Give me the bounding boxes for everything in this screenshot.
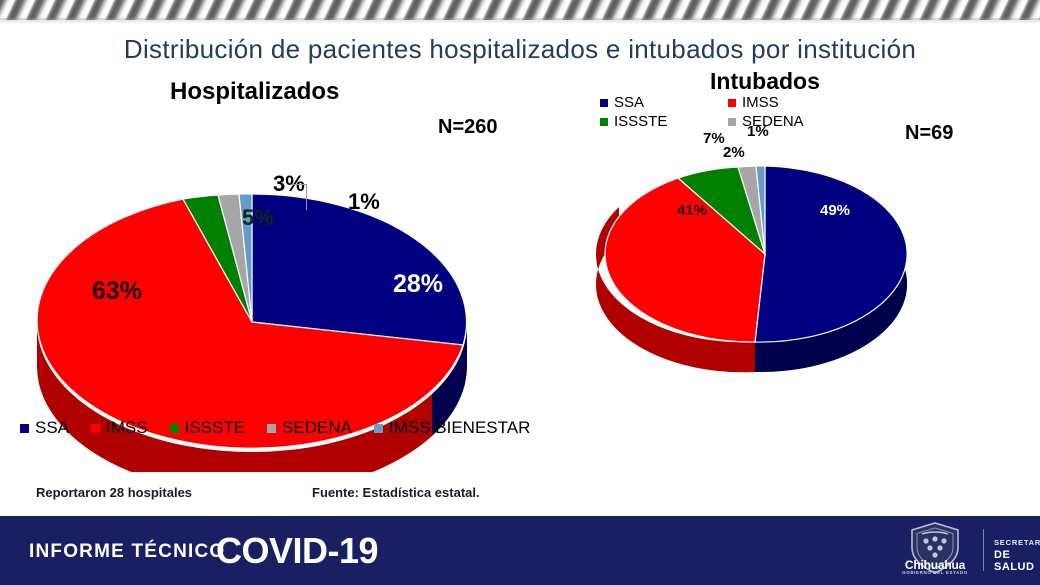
legend-item-sedena[interactable]: SEDENA: [267, 418, 352, 438]
legend-label-imss: IMSS: [106, 418, 148, 438]
pie-chart-hospitalizados: [10, 72, 540, 472]
legend-label-sedena: SEDENA: [282, 418, 352, 438]
logo-secretaria-line1: SECRETARÍA: [994, 538, 1040, 547]
banner-informe-tecnico: INFORME TÉCNICO: [29, 541, 225, 563]
legend-item-ssa[interactable]: SSA: [20, 418, 69, 438]
banner-covid-19: COVID-19: [216, 530, 378, 572]
logo-secretaria-line2: DE SALUD: [994, 549, 1034, 573]
footnote-source: Fuente: Estadística estatal.: [312, 485, 480, 500]
legend-item-imss[interactable]: IMSS: [91, 418, 148, 438]
logo-divider: [983, 529, 984, 571]
legend-swatch-imss-bienestar: [374, 424, 383, 433]
legend-item-imss-bienestar[interactable]: IMSS BIENESTAR: [374, 418, 530, 438]
decorative-stripe-band: [0, 0, 1040, 20]
legend-swatch-sedena: [267, 424, 276, 433]
legend-hospitalizados: SSA IMSS ISSSTE SEDENA IMSS BIENESTAR: [20, 418, 530, 438]
leader-line-sedena-horizontal: [292, 184, 307, 185]
legend-swatch-imss: [91, 424, 100, 433]
pie-slice-ssa: [252, 194, 466, 345]
legend-label-imss-bienestar: IMSS BIENESTAR: [389, 418, 530, 438]
legend-item-issste[interactable]: ISSSTE: [170, 418, 245, 438]
legend-label-issste: ISSSTE: [185, 418, 245, 438]
logo-state-subtitle: GOBIERNO DEL ESTADO: [896, 570, 974, 575]
legend-label-ssa: SSA: [35, 418, 69, 438]
chart-intubados: Intubados SSA IMSS ISSSTE SEDENA N=69: [565, 62, 1035, 392]
chart-hospitalizados: Hospitalizados N=260 63% 28% 5% 3% 1%: [10, 72, 540, 452]
legend-swatch-issste: [170, 424, 179, 433]
legend-swatch-ssa: [20, 424, 29, 433]
page-title: Distribución de pacientes hospitalizados…: [0, 34, 1040, 65]
leader-line-sedena: [306, 184, 307, 210]
stripe-shadow: [0, 18, 1040, 24]
footnote-hospitals-reported: Reportaron 28 hospitales: [36, 485, 192, 500]
pie-chart-intubados: [565, 62, 1035, 392]
logo-block: Chihuahua GOBIERNO DEL ESTADO SECRETARÍA…: [884, 521, 1034, 579]
